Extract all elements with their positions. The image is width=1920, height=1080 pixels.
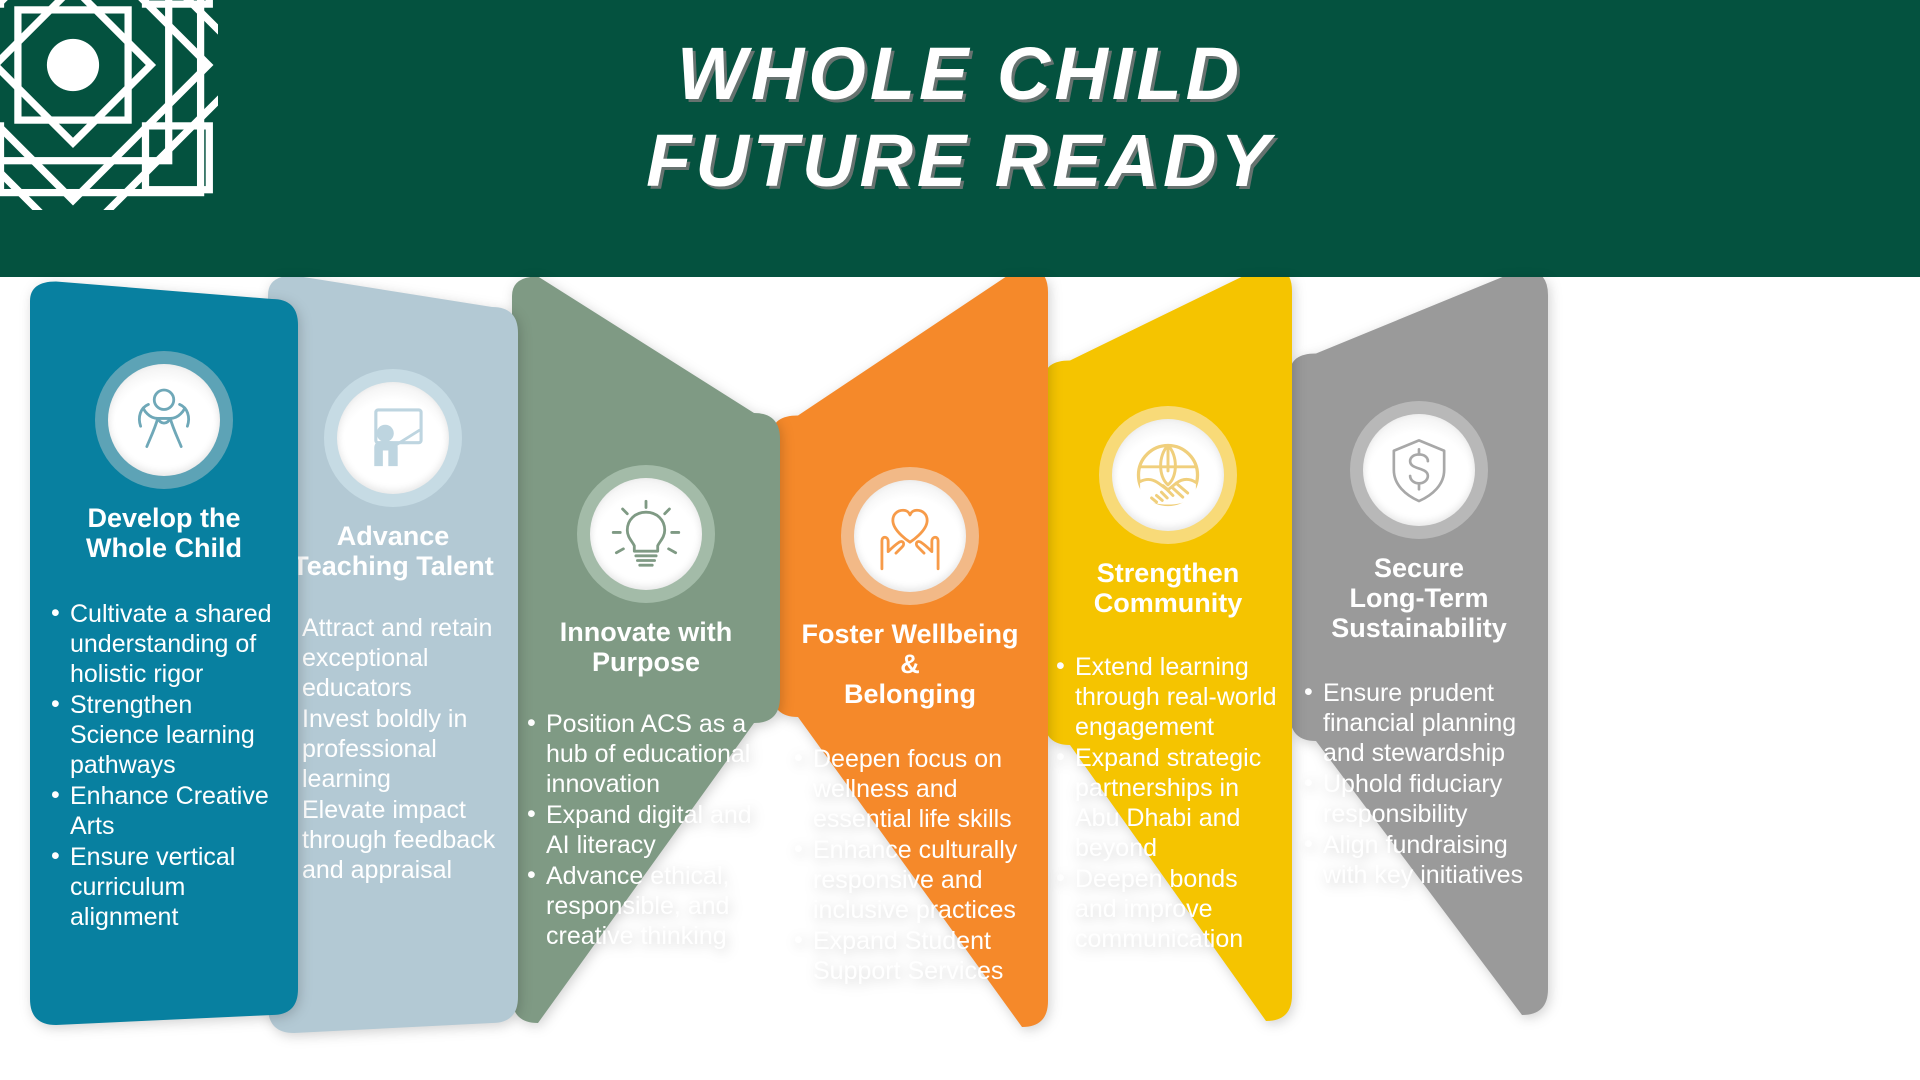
header-banner: WHOLE CHILD FUTURE READY <box>0 0 1920 277</box>
bullet-item: Enhance culturally responsive and inclus… <box>791 835 1029 925</box>
pillar-panel-strengthen-community[interactable]: Strengthen CommunityExtend learning thro… <box>1044 277 1292 1080</box>
lightbulb-icon-badge <box>577 465 715 603</box>
pillar-panels: Develop the Whole ChildCultivate a share… <box>0 277 1920 1080</box>
teacher-whiteboard-icon <box>352 399 434 477</box>
child-figure-icon <box>125 381 203 459</box>
page-title: WHOLE CHILD FUTURE READY <box>0 30 1920 205</box>
bullet-item: Elevate impact through feedback and appr… <box>280 795 506 885</box>
bullet-item: Expand digital and AI literacy <box>524 800 768 860</box>
panel-title: Foster Wellbeing & Belonging <box>791 619 1029 710</box>
bullet-item: Enhance Creative Arts <box>48 781 280 841</box>
child-figure-icon-badge <box>95 351 233 489</box>
heart-in-hands-icon <box>870 497 950 575</box>
panel-bullet-list: Cultivate a shared understanding of holi… <box>48 599 280 933</box>
bullet-item: Deepen focus on wellness and essential l… <box>791 744 1029 834</box>
bullet-item: Align fundraising with key initiatives <box>1301 830 1537 890</box>
panel-bullet-list: Extend learning through real-world engag… <box>1053 652 1283 955</box>
panel-bullet-list: Position ACS as a hub of educational inn… <box>524 709 768 952</box>
heart-in-hands-icon-badge <box>841 467 979 605</box>
panel-bullet-list: Attract and retain exceptional educators… <box>280 613 506 886</box>
panel-title: Secure Long-Term Sustainability <box>1301 553 1537 644</box>
panel-content: Strengthen CommunityExtend learning thro… <box>1044 277 1292 1080</box>
bullet-item: Position ACS as a hub of educational inn… <box>524 709 768 799</box>
bullet-item: Attract and retain exceptional educators <box>280 613 506 703</box>
bullet-item: Ensure vertical curriculum alignment <box>48 842 280 932</box>
infographic-slide: WHOLE CHILD FUTURE READY Develop the Who… <box>0 0 1920 1080</box>
pillar-panel-innovate-with-purpose[interactable]: Innovate with PurposePosition ACS as a h… <box>512 277 780 1080</box>
shield-dollar-icon <box>1382 430 1456 510</box>
globe-handshake-icon <box>1127 434 1209 516</box>
panel-title: Advance Teaching Talent <box>280 521 506 581</box>
pillar-panel-secure-long-term-sustainability[interactable]: Secure Long-Term SustainabilityEnsure pr… <box>1290 277 1548 1080</box>
panel-bullet-list: Deepen focus on wellness and essential l… <box>791 744 1029 987</box>
bullet-item: Extend learning through real-world engag… <box>1053 652 1283 742</box>
pillar-panel-advance-teaching-talent[interactable]: Advance Teaching TalentAttract and retai… <box>268 277 518 1080</box>
panel-title: Strengthen Community <box>1053 558 1283 618</box>
bullet-item: Advance ethical, responsible, and creati… <box>524 861 768 951</box>
shield-dollar-icon-badge <box>1350 401 1488 539</box>
pillar-panel-foster-wellbeing-and-belonging[interactable]: Foster Wellbeing & BelongingDeepen focus… <box>772 277 1048 1080</box>
panel-title: Develop the Whole Child <box>48 503 280 563</box>
bullet-item: Expand strategic partnerships in Abu Dha… <box>1053 743 1283 863</box>
lightbulb-icon <box>607 493 685 575</box>
panel-title: Innovate with Purpose <box>524 617 768 677</box>
bullet-item: Uphold fiduciary responsibility <box>1301 769 1537 829</box>
globe-handshake-icon-badge <box>1099 406 1237 544</box>
bullet-item: Cultivate a shared understanding of holi… <box>48 599 280 689</box>
panel-content: Develop the Whole ChildCultivate a share… <box>30 277 298 1080</box>
bullet-item: Invest boldly in professional learning <box>280 704 506 794</box>
teacher-whiteboard-icon-badge <box>324 369 462 507</box>
panel-content: Advance Teaching TalentAttract and retai… <box>268 277 518 1080</box>
title-line-1: WHOLE CHILD <box>0 30 1920 117</box>
panel-bullet-list: Ensure prudent financial planning and st… <box>1301 678 1537 891</box>
panel-content: Foster Wellbeing & BelongingDeepen focus… <box>772 277 1048 1080</box>
panel-content: Innovate with PurposePosition ACS as a h… <box>512 277 780 1080</box>
pillar-panel-develop-the-whole-child[interactable]: Develop the Whole ChildCultivate a share… <box>30 277 298 1080</box>
bullet-item: Strengthen Science learning pathways <box>48 690 280 780</box>
panel-content: Secure Long-Term SustainabilityEnsure pr… <box>1290 277 1548 1080</box>
bullet-item: Deepen bonds and improve communication <box>1053 864 1283 954</box>
bullet-item: Ensure prudent financial planning and st… <box>1301 678 1537 768</box>
title-line-2: FUTURE READY <box>0 117 1920 204</box>
bullet-item: Expand Student Support Services <box>791 926 1029 986</box>
